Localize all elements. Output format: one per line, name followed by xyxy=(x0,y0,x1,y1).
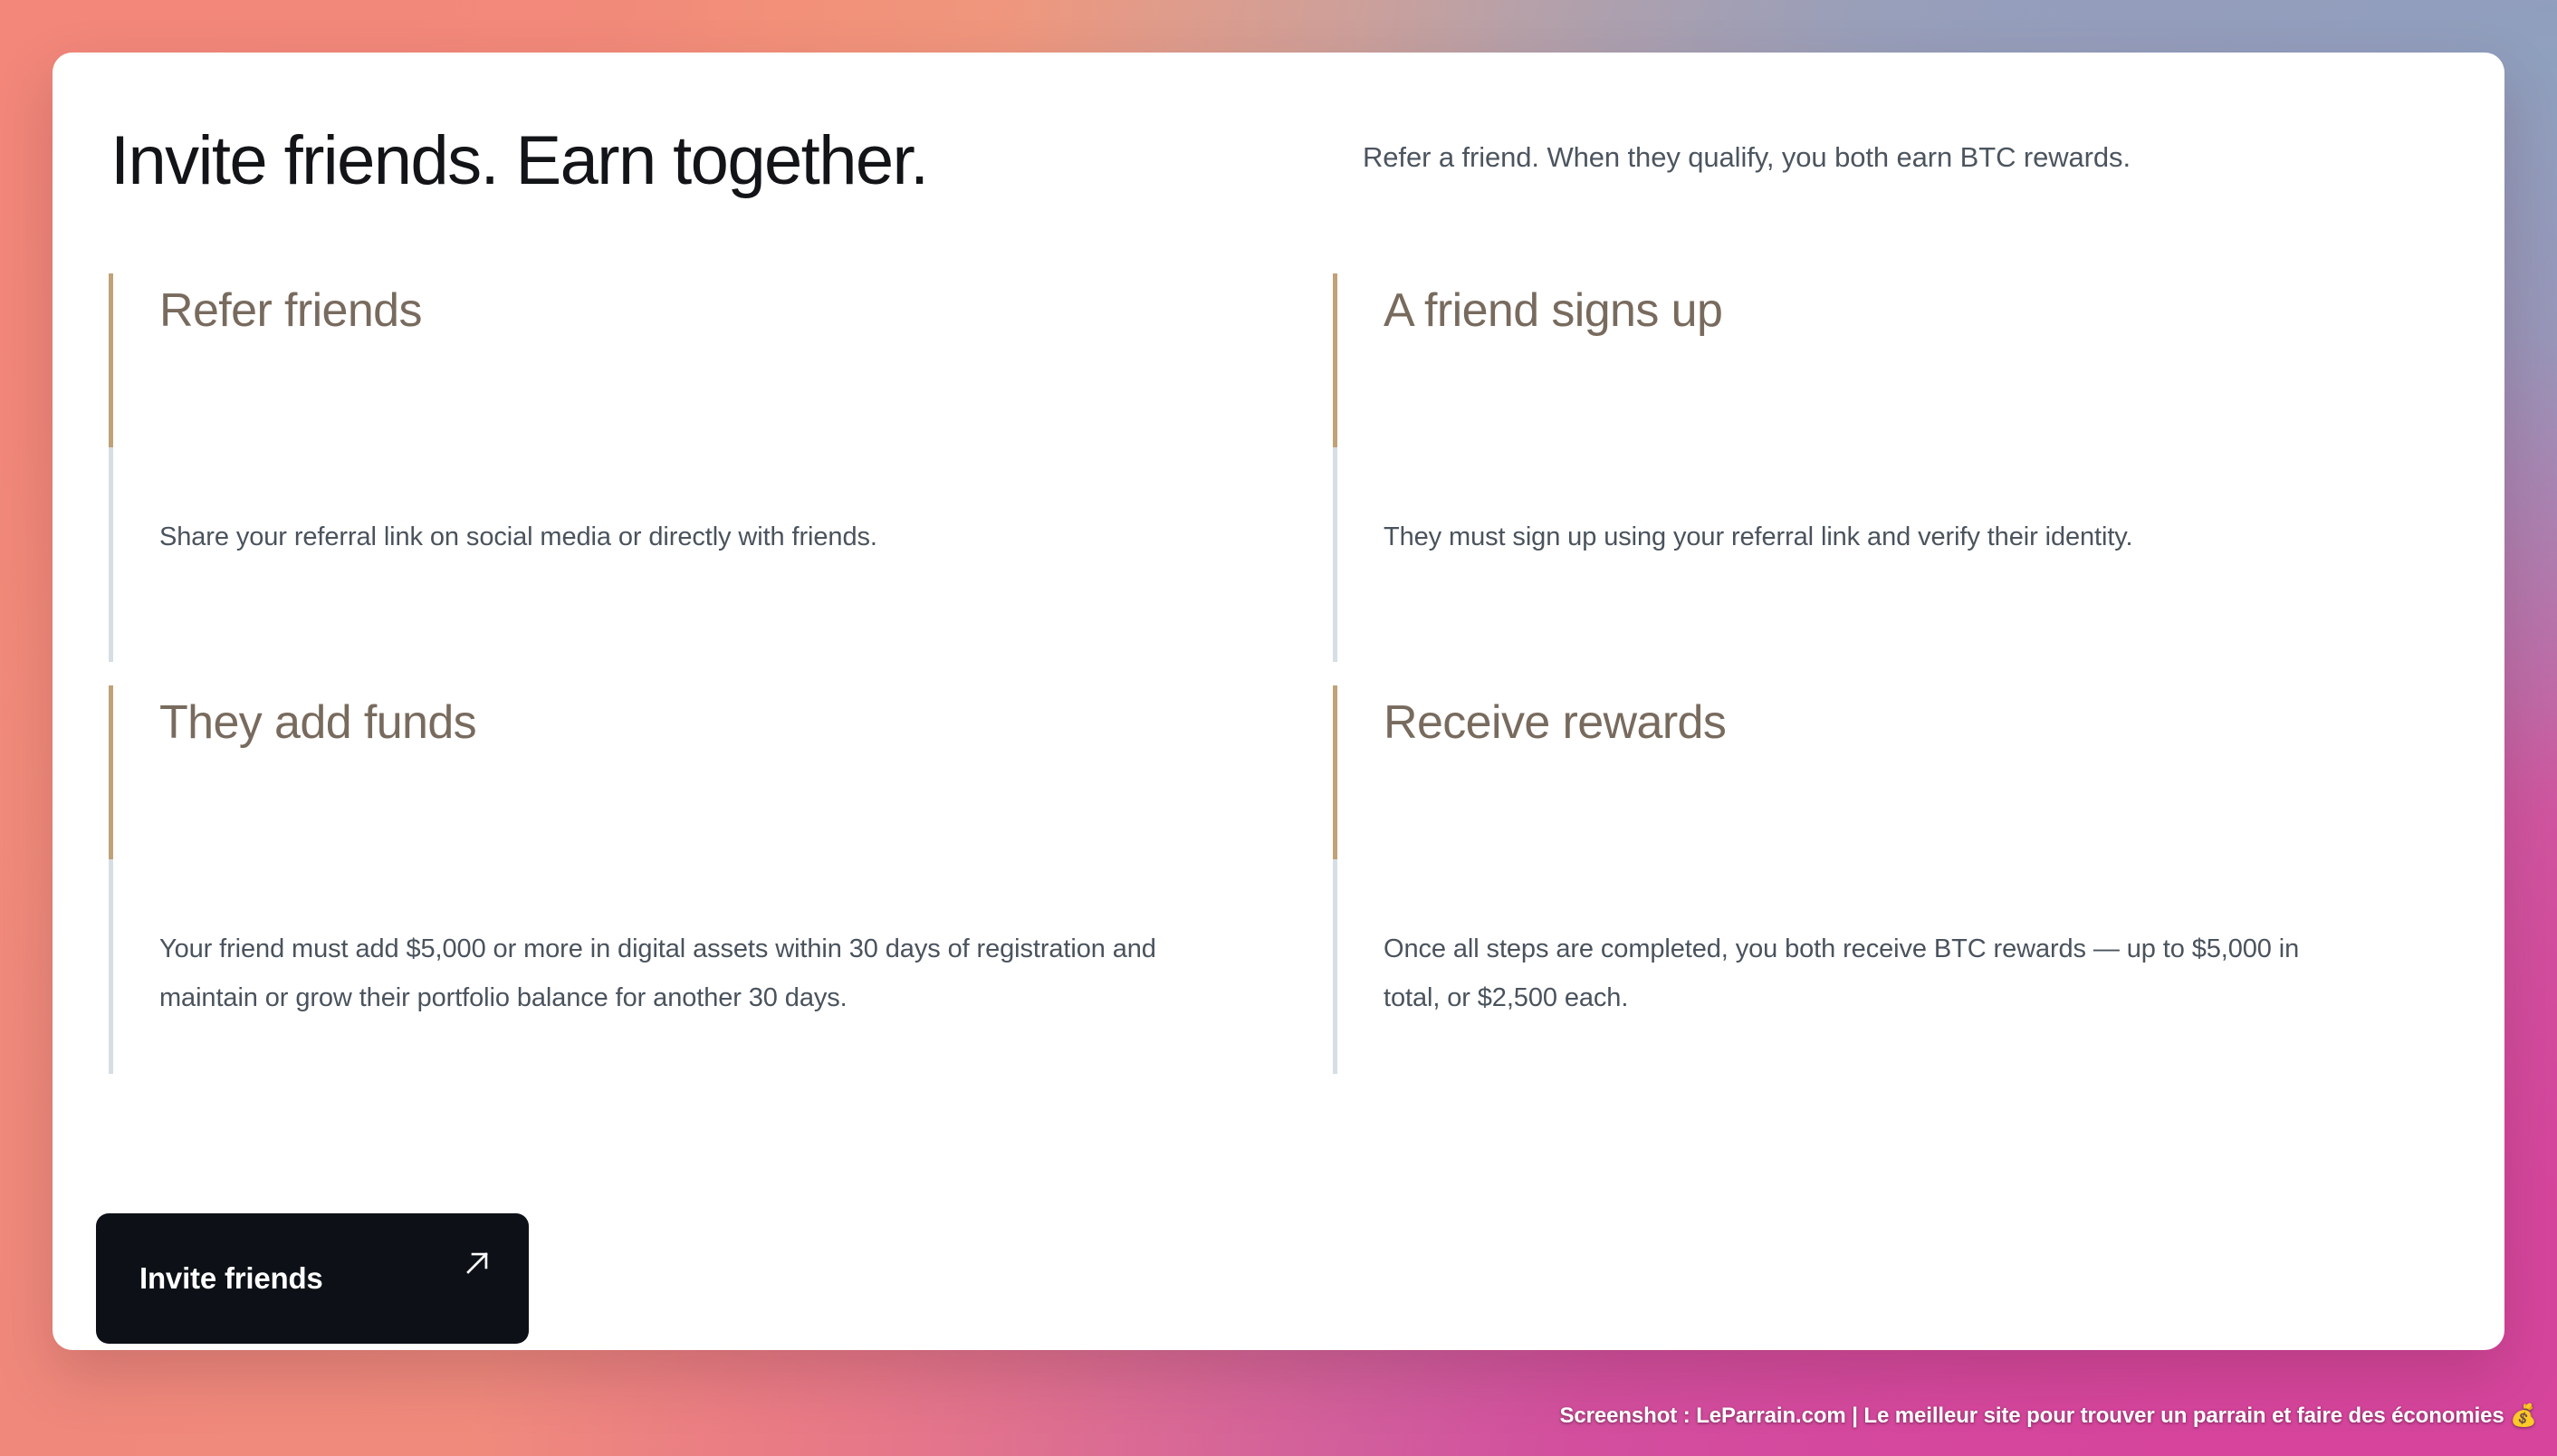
step-card-friend-signs-up: A friend signs up They must sign up usin… xyxy=(1333,266,2539,678)
step-title: Receive rewards xyxy=(1384,678,2539,748)
steps-grid: Refer friends Share your referral link o… xyxy=(109,266,2448,1090)
invite-friends-button-label: Invite friends xyxy=(139,1261,323,1296)
screenshot-watermark: Screenshot : LeParrain.com | Le meilleur… xyxy=(1559,1403,2537,1429)
step-card-receive-rewards: Receive rewards Once all steps are compl… xyxy=(1333,678,2539,1090)
page-title: Invite friends. Earn together. xyxy=(110,121,928,200)
step-accent-rail xyxy=(109,685,113,1074)
cta-container: Invite friends xyxy=(96,1213,529,1344)
arrow-up-right-icon xyxy=(462,1248,493,1279)
page-subtitle: Refer a friend. When they qualify, you b… xyxy=(1363,141,2131,174)
step-description: They must sign up using your referral li… xyxy=(1384,512,2430,561)
step-description: Share your referral link on social media… xyxy=(159,512,1206,561)
panel-header: Invite friends. Earn together. Refer a f… xyxy=(109,109,2448,243)
step-accent-rail xyxy=(1333,273,1337,662)
step-title: They add funds xyxy=(159,678,1315,748)
step-accent-rail xyxy=(1333,685,1337,1074)
referral-promo-screen: Invite friends. Earn together. Refer a f… xyxy=(0,0,2557,1456)
step-title: Refer friends xyxy=(159,266,1315,336)
step-description: Your friend must add $5,000 or more in d… xyxy=(159,924,1206,1022)
step-card-they-add-funds: They add funds Your friend must add $5,0… xyxy=(109,678,1315,1090)
step-card-refer-friends: Refer friends Share your referral link o… xyxy=(109,266,1315,678)
referral-panel: Invite friends. Earn together. Refer a f… xyxy=(53,53,2504,1350)
step-title: A friend signs up xyxy=(1384,266,2539,336)
step-description: Once all steps are completed, you both r… xyxy=(1384,924,2349,1022)
step-accent-rail xyxy=(109,273,113,662)
invite-friends-button[interactable]: Invite friends xyxy=(96,1213,529,1344)
